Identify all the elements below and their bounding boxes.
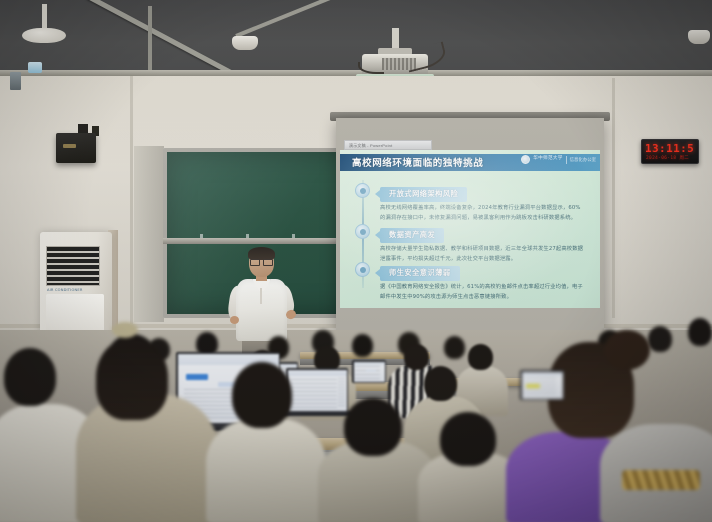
university-seal-icon [521, 155, 530, 164]
slide-block-2: 数据资产高发 高校存储大量学生隐私数据、教学和科研项目数据，近三年全球共发生27… [380, 224, 584, 264]
attendee-head-far-10 [688, 318, 712, 346]
attendee-foreground-mid-body [206, 418, 326, 522]
slide-university-logo: 华中师范大学 信息化办公室 [521, 155, 596, 164]
attendee-near-right-head [424, 366, 457, 401]
ceiling-speaker-right-icon [688, 30, 710, 44]
logo-secondary-text: 信息化办公室 [570, 157, 596, 163]
attendee-foreground-mid-head [232, 362, 292, 428]
air-conditioner-brand-text: AIR CONDITIONER [47, 288, 83, 292]
laptop-text-rows [355, 366, 379, 380]
air-conditioner-display [10, 72, 21, 90]
tablet-text-rows [524, 377, 556, 396]
slide-block-1-body: 高校无线网络覆盖率高，终端设备复杂，2024年教育行业漏洞平台数据显示，60%的… [380, 204, 584, 223]
laptop-lid [352, 360, 386, 383]
laptop-app-toolbar [354, 362, 385, 365]
hair-scrunchie [112, 322, 138, 338]
logo-primary-text: 华中师范大学 [533, 157, 562, 162]
presenter-placket [260, 288, 262, 304]
logo-divider [566, 156, 567, 164]
laptop-base [282, 411, 351, 416]
presenter-speaking [228, 248, 294, 344]
laptop-accent-button [186, 374, 208, 380]
slide-title: 高校网络环境面临的独特挑战 [352, 155, 483, 169]
gold-chain-strap [622, 470, 700, 490]
wall-mounted-speaker [56, 133, 96, 163]
timeline-node-3-dot [360, 267, 366, 273]
laptop-app-toolbar [288, 370, 347, 377]
laptop-screen [288, 370, 347, 411]
ceiling-light-fixture-left [22, 4, 66, 44]
slide-block-3-heading: 师生安全意识薄弱 [380, 266, 460, 281]
attendee-foreground-center-head [344, 398, 402, 456]
slide-block-1-heading: 开放式网络架构风险 [380, 187, 467, 202]
tablet-lid [520, 370, 564, 400]
presenter-glasses-icon [250, 259, 273, 264]
tablet-screen [522, 372, 563, 399]
attendee-ponytail-hair [96, 338, 168, 420]
projector-cable [404, 41, 448, 72]
slide-block-2-heading: 数据资产高发 [380, 228, 444, 243]
timeline-node-3 [355, 262, 370, 277]
presenter-left-hand [230, 316, 239, 324]
wall-digital-clock: 13:11:5 2024-06-18 周二 [641, 139, 699, 164]
attendee-head-far-4 [444, 336, 465, 359]
attendee-foreground-right-head [440, 412, 496, 466]
projected-app-title: 演示文稿 - PowerPoint [349, 143, 392, 149]
attendee-mid-right-head [468, 344, 493, 370]
laptop-near-2[interactable] [286, 368, 348, 412]
timeline-node-2-dot [360, 229, 366, 235]
timeline-node-2 [355, 224, 370, 239]
attendee-foreground-white-head [4, 348, 56, 406]
wall-seam-left [130, 76, 133, 326]
tablet-foreground[interactable] [520, 370, 564, 400]
slide-block-3: 师生安全意识薄弱 据《中国教育网络安全报告》统计，61%的高校钓鱼邮件点击率超过… [380, 262, 584, 302]
clock-time-display: 13:11:5 [645, 142, 697, 155]
ceiling-beam-vertical [148, 6, 152, 78]
attendee-head-far-2 [352, 334, 373, 357]
fixture-stem [42, 4, 47, 30]
projector-mount [392, 28, 399, 50]
attendee-hair-bun [604, 330, 650, 370]
clock-date-display: 2024-06-18 周二 [646, 155, 696, 161]
attendee-head-far-9 [648, 326, 672, 352]
timeline-node-1 [355, 183, 370, 198]
laptop-lid [286, 368, 348, 412]
wall-seam-right [612, 78, 615, 318]
laptop-text-rows [291, 379, 337, 409]
air-conditioner-badge-sticker [28, 62, 42, 73]
slide-block-3-body: 据《中国教育网络安全报告》统计，61%的高校钓鱼邮件点击率超过行业均值，电子邮件… [380, 283, 584, 302]
laptop-sidebar [338, 378, 345, 408]
speaker-brand-badge [63, 144, 76, 148]
ceiling-speaker-icon [232, 36, 258, 50]
tablet-toolbar [522, 372, 563, 376]
attendee-mid-striped-head [404, 344, 429, 370]
air-conditioner-louvers [46, 246, 100, 286]
laptop-middle-2[interactable] [352, 360, 386, 383]
slide-block-1: 开放式网络架构风险 高校无线网络覆盖率高，终端设备复杂，2024年教育行业漏洞平… [380, 183, 584, 223]
projected-app-titlebar: 演示文稿 - PowerPoint [344, 140, 432, 150]
presentation-slide: 高校网络环境面临的独特挑战 华中师范大学 信息化办公室 开放式网络架构风险 高校… [340, 150, 600, 308]
laptop-screen [354, 362, 385, 382]
timeline-node-1-dot [360, 188, 366, 194]
fixture-dome [22, 28, 66, 43]
chalkboard-side-panel [134, 146, 164, 322]
classroom-photo-scene: 13:11:5 2024-06-18 周二 演示文稿 - PowerPoint … [0, 0, 712, 522]
